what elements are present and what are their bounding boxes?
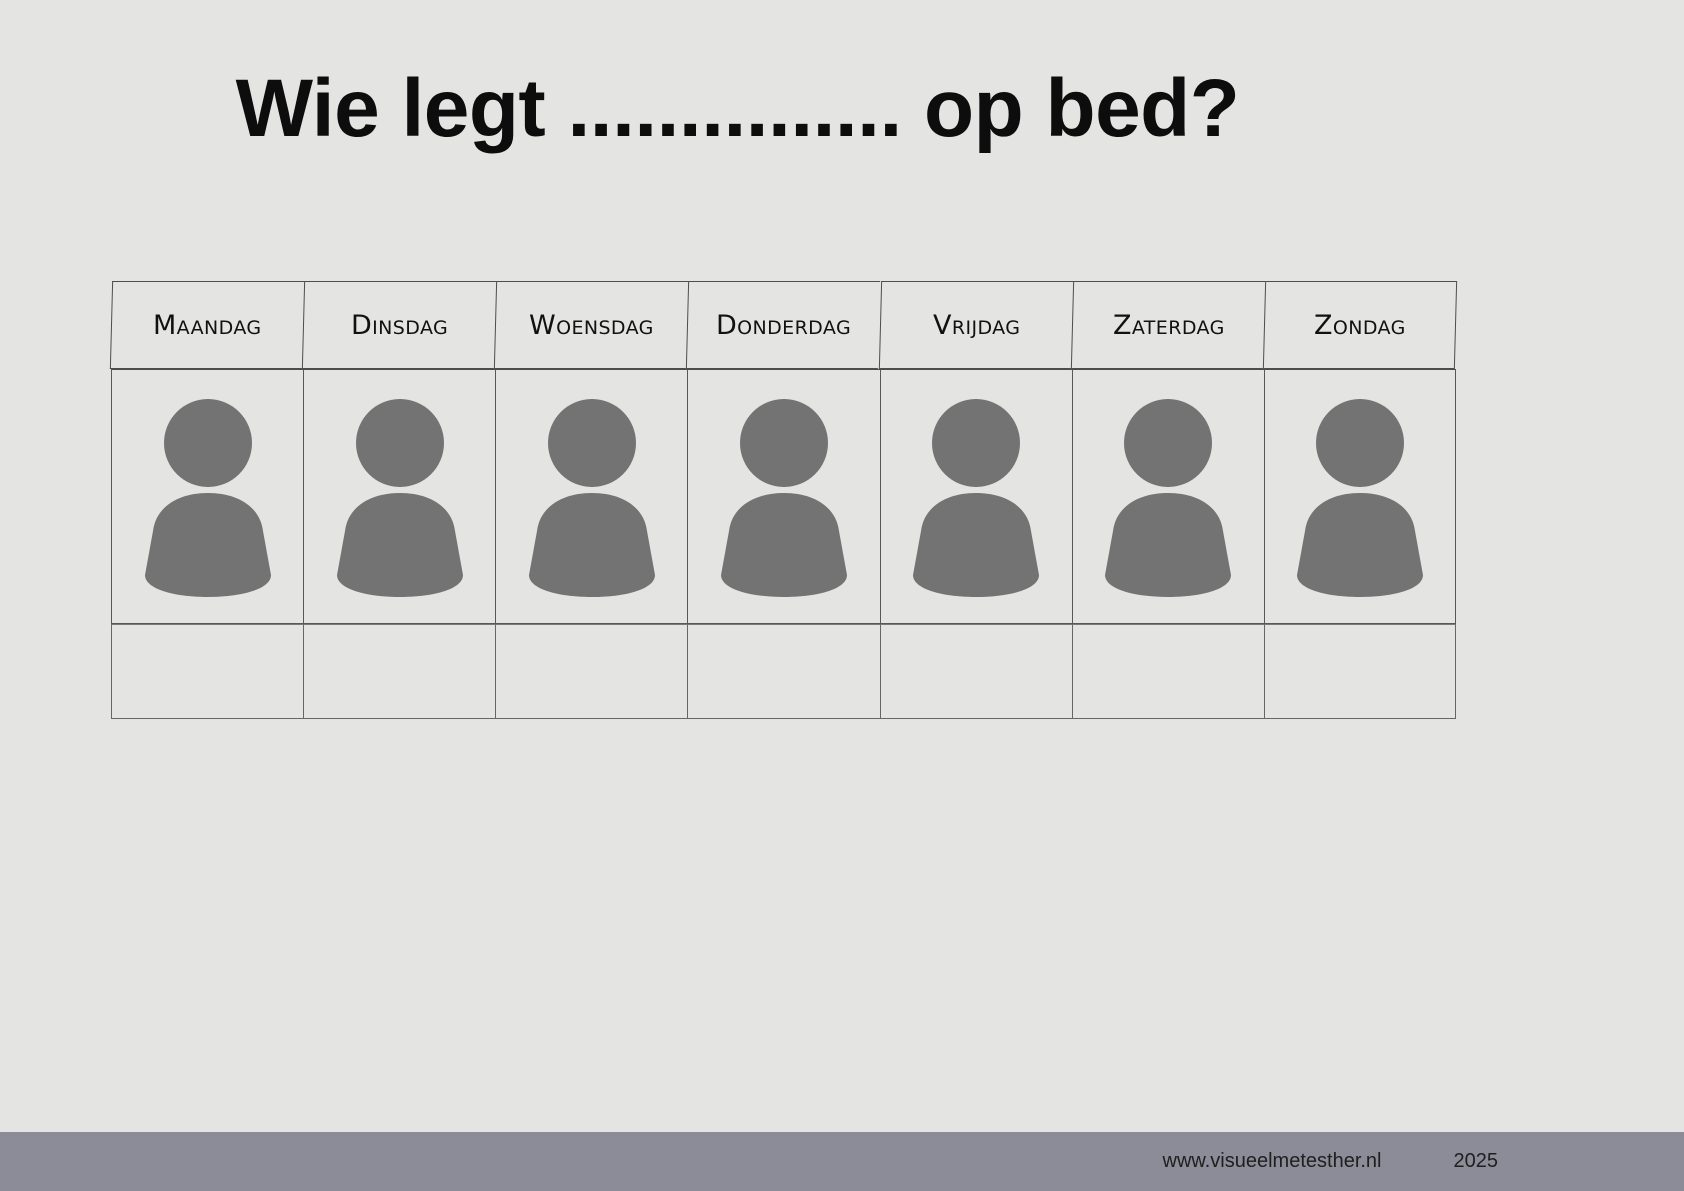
person-icon-row xyxy=(111,369,1456,624)
table-header-row: Maandag Dinsdag Woensdag Donderdag Vrijd… xyxy=(111,281,1456,369)
day-header-label: Dinsdag xyxy=(351,310,448,341)
answer-blank-cell[interactable] xyxy=(1264,624,1456,719)
day-header-maandag: Maandag xyxy=(110,281,304,369)
person-silhouette-icon xyxy=(334,397,466,597)
person-silhouette-icon xyxy=(526,397,658,597)
person-silhouette-icon xyxy=(718,397,850,597)
person-icon-cell[interactable] xyxy=(111,369,303,624)
answer-blank-cell[interactable] xyxy=(495,624,687,719)
day-header-label: Vrijdag xyxy=(932,310,1019,341)
person-silhouette-icon xyxy=(142,397,274,597)
day-header-vrijdag: Vrijdag xyxy=(878,281,1072,369)
person-silhouette-icon xyxy=(1294,397,1426,597)
person-silhouette-icon xyxy=(910,397,1042,597)
day-header-donderdag: Donderdag xyxy=(686,281,880,369)
footer-website: www.visueelmetesther.nl xyxy=(1163,1150,1382,1173)
weekday-table: Maandag Dinsdag Woensdag Donderdag Vrijd… xyxy=(111,281,1456,719)
answer-blank-row xyxy=(111,624,1456,719)
day-header-zaterdag: Zaterdag xyxy=(1071,281,1265,369)
day-header-label: Woensdag xyxy=(529,310,654,341)
answer-blank-cell[interactable] xyxy=(880,624,1072,719)
answer-blank-cell[interactable] xyxy=(687,624,879,719)
answer-blank-cell[interactable] xyxy=(111,624,303,719)
footer-bar: www.visueelmetesther.nl 2025 xyxy=(0,1132,1684,1191)
day-header-zondag: Zondag xyxy=(1263,281,1457,369)
day-header-label: Zondag xyxy=(1314,310,1406,341)
day-header-label: Zaterdag xyxy=(1112,310,1224,341)
footer-year: 2025 xyxy=(1454,1150,1499,1173)
person-icon-cell[interactable] xyxy=(880,369,1072,624)
page-title: Wie legt ............... op bed? xyxy=(0,66,1475,152)
person-icon-cell[interactable] xyxy=(1072,369,1264,624)
person-icon-cell[interactable] xyxy=(1264,369,1456,624)
day-header-woensdag: Woensdag xyxy=(494,281,688,369)
answer-blank-cell[interactable] xyxy=(1072,624,1264,719)
person-icon-cell[interactable] xyxy=(687,369,879,624)
day-header-dinsdag: Dinsdag xyxy=(302,281,496,369)
person-icon-cell[interactable] xyxy=(495,369,687,624)
answer-blank-cell[interactable] xyxy=(303,624,495,719)
day-header-label: Maandag xyxy=(153,310,262,341)
person-icon-cell[interactable] xyxy=(303,369,495,624)
day-header-label: Donderdag xyxy=(716,310,851,341)
person-silhouette-icon xyxy=(1102,397,1234,597)
